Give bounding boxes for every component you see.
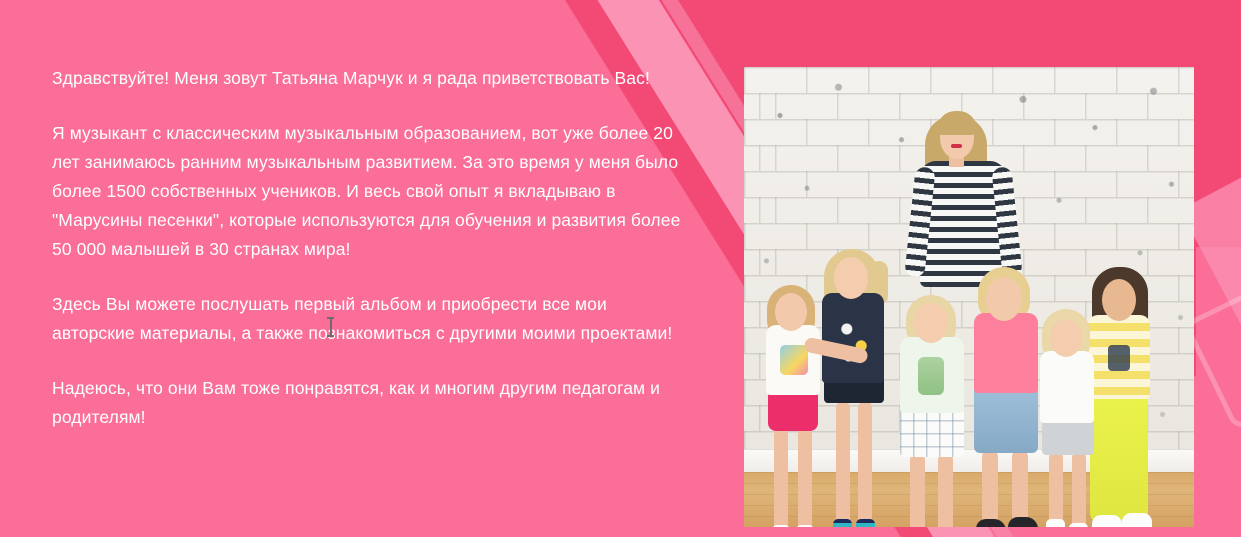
woman-lips — [951, 144, 962, 148]
child-3-left-leg — [910, 453, 925, 527]
child-5-right-sock — [1069, 523, 1088, 527]
child-6-shirt-motif — [1108, 345, 1130, 371]
author-photo-image — [744, 67, 1194, 527]
child-2-head — [834, 257, 868, 299]
child-4-left-leg — [982, 449, 998, 525]
child-1-shirt-print — [780, 345, 808, 375]
child-4-pink-tee — [974, 313, 1038, 393]
child-5-left-sock — [1046, 519, 1065, 527]
child-3-head — [914, 303, 948, 343]
intro-paragraph-4: Надеюсь, что они Вам тоже понравятся, ка… — [52, 374, 688, 432]
child-4-head — [986, 277, 1022, 321]
child-5-right-leg — [1072, 451, 1086, 527]
child-1-right-leg — [798, 427, 812, 527]
intro-paragraph-2: Я музыкант с классическим музыкальным об… — [52, 119, 688, 264]
child-1-left-leg — [774, 427, 788, 527]
child-4-right-leg — [1012, 449, 1028, 525]
child-2-right-leg — [858, 401, 872, 525]
section-content: Здравствуйте! Меня зовут Татьяна Марчук … — [0, 0, 1241, 537]
author-photo — [744, 67, 1194, 527]
intro-copy: Здравствуйте! Меня зовут Татьяна Марчук … — [52, 64, 688, 432]
child-6-yellow-leggings — [1090, 393, 1148, 523]
child-5-head — [1050, 319, 1082, 357]
child-5-left-leg — [1049, 451, 1063, 527]
child-1-left-sock — [772, 525, 790, 527]
child-6-right-shoe — [1122, 513, 1152, 527]
child-1-pink-shorts — [768, 389, 818, 431]
child-4-denim-shorts — [974, 387, 1038, 453]
child-6-left-shoe — [1092, 515, 1122, 527]
child-2-right-striped-sock — [856, 519, 875, 527]
child-6-head — [1102, 279, 1136, 321]
child-1-right-sock — [796, 525, 814, 527]
landing-page-section: Здравствуйте! Меня зовут Татьяна Марчук … — [0, 0, 1241, 537]
child-1-head — [775, 293, 807, 331]
intro-paragraph-1: Здравствуйте! Меня зовут Татьяна Марчук … — [52, 64, 688, 93]
child-3-shirt-print — [918, 357, 944, 395]
intro-paragraph-3: Здесь Вы можете послушать первый альбом … — [52, 290, 688, 348]
child-2-left-striped-sock — [833, 519, 852, 527]
child-2-left-leg — [836, 401, 850, 525]
child-3-plaid-shorts — [900, 407, 964, 457]
child-3-right-leg — [938, 453, 953, 527]
child-5-white-longsleeve — [1040, 351, 1094, 423]
